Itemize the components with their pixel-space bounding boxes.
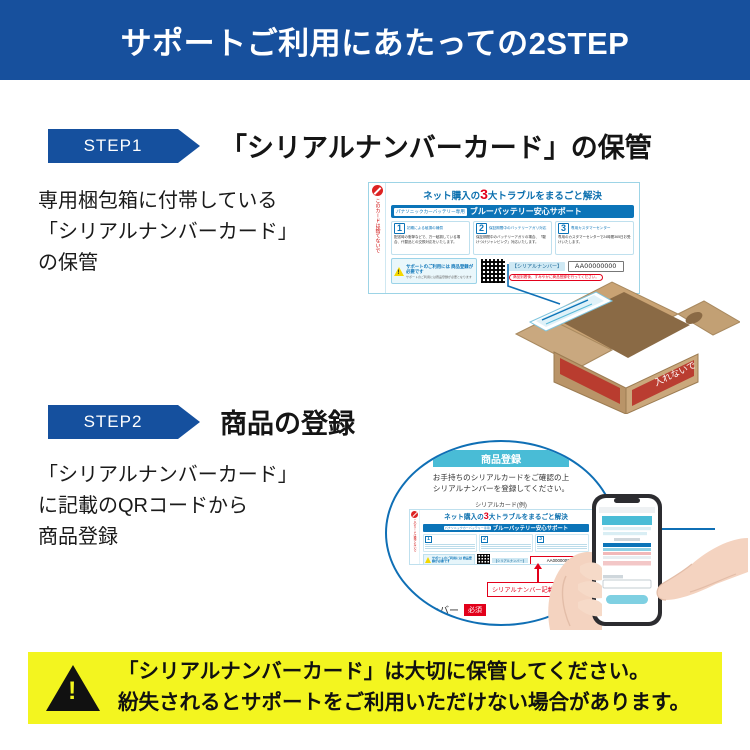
- exclamation-triangle-icon: [46, 665, 100, 711]
- card-warning-sub: サポートのご利用には商品登録が必要となります: [406, 275, 474, 279]
- infographic-page: サポートご利用にあたっての2STEP STEP1 「シリアルナンバーカード」の保…: [0, 0, 750, 750]
- mini-registration-warning: サポートのご利用には 商品登録が必要です: [423, 554, 475, 565]
- mini-warning-title: サポートのご利用には 商品登録が必要です: [432, 557, 473, 564]
- mini-no-discard-icon: [411, 511, 418, 518]
- page-title: サポートご利用にあたっての2STEP: [121, 18, 630, 63]
- step1-heading: STEP1 「シリアルナンバーカード」の保管: [48, 126, 652, 165]
- required-badge: 必須: [464, 604, 486, 616]
- card-side-strip: このカードは捨てないで: [369, 183, 386, 293]
- step2-body-line-1: 「シリアルナンバーカード」: [38, 460, 298, 491]
- serial-field-label: ルナンバー: [409, 602, 459, 617]
- mini-feature-2-number: 2: [481, 536, 488, 543]
- mini-feature-2: 2: [479, 534, 533, 552]
- feature-2-number: 2: [476, 223, 487, 234]
- card-brand-tag: パナソニックカーバッテリー専用: [394, 208, 467, 216]
- card-feature-2: 2 保証期間中のバッテリーアガリ対応 保証期間中のバッテリーアガリの場合、「駆け…: [473, 221, 552, 255]
- feature-1-body: 配送時の衝撃などで、万一破損している場合、代替品との交換対応をいたします。: [394, 235, 467, 244]
- card-feature-3: 3 専用カスタマーセンター 専用のカスタマーセンターで24時間365日お受けいた…: [555, 221, 634, 255]
- phone-in-hand-illustration: [540, 480, 748, 640]
- mini-headline-pre: ネット購入の: [444, 514, 484, 521]
- bottom-warning-box: 「シリアルナンバーカード」は大切に保管してください。 紛失されるとサポートをご利…: [28, 652, 722, 724]
- feature-2-body: 保証期間中のバッテリーアガリの場合、「駆けつけジャンピング」対応いたします。: [476, 235, 549, 244]
- step2-badge-label: STEP2: [84, 412, 143, 432]
- step1-badge: STEP1: [48, 129, 178, 163]
- feature-1-number: 1: [394, 223, 405, 234]
- step2-body: 「シリアルナンバーカード」 に記載のQRコードから 商品登録: [38, 460, 298, 553]
- warning-triangle-icon: [394, 267, 404, 276]
- step1-body-line-2: 「シリアルナンバーカード」: [38, 217, 298, 248]
- cardboard-box-illustration: 入れないで: [508, 270, 740, 414]
- feature-3-body: 専用のカスタマーセンターで24時間365日お受けいたします。: [558, 235, 631, 244]
- mini-feature-1-number: 1: [425, 536, 432, 543]
- card-side-text: このカードは捨てないで: [375, 198, 380, 253]
- mini-warning-triangle-icon: [425, 557, 431, 563]
- mini-card-side: このカードは捨てないで: [410, 510, 420, 564]
- serial-number-field-row: ルナンバー 必須: [409, 602, 486, 617]
- bottom-warning-line-2: 紛失されるとサポートをご利用いただけない場合があります。: [118, 688, 690, 719]
- card-feature-1: 1 初期による破損の補償 配送時の衝撃などで、万一破損している場合、代替品との交…: [391, 221, 470, 255]
- step2-heading: STEP2 商品の登録: [48, 402, 355, 441]
- step1-body: 専用梱包箱に付帯している 「シリアルナンバーカード」 の保管: [38, 186, 298, 279]
- step2-title: 商品の登録: [220, 402, 355, 441]
- mini-brand-tag: パナソニックカーバッテリー専用: [444, 526, 491, 530]
- feature-3-title: 専用カスタマーセンター: [571, 227, 611, 231]
- cardboard-box-svg: 入れないで: [508, 270, 740, 414]
- feature-1-title: 初期による破損の補償: [407, 227, 443, 231]
- mini-feature-1: 1: [423, 534, 477, 552]
- serial-position-arrow-icon: [537, 568, 539, 582]
- bottom-warning-text: 「シリアルナンバーカード」は大切に保管してください。 紛失されるとサポートをご利…: [118, 657, 690, 719]
- mini-qr-code-icon: [477, 554, 490, 565]
- bottom-warning-line-1: 「シリアルナンバーカード」は大切に保管してください。: [118, 657, 690, 688]
- mini-serial-label: 【シリアルナンバー】: [492, 558, 528, 563]
- card-headline-post: 大トラブルをまるごと解決: [488, 191, 602, 202]
- card-warning-title: サポートのご利用には 商品登録が必要です: [406, 264, 474, 274]
- mini-card-side-text: このカードは捨てないで: [413, 519, 416, 552]
- feature-2-title: 保証期間中のバッテリーアガリ対応: [489, 227, 546, 231]
- header-banner: サポートご利用にあたっての2STEP: [0, 0, 750, 80]
- card-feature-row: 1 初期による破損の補償 配送時の衝撃などで、万一破損している場合、代替品との交…: [391, 221, 634, 255]
- step1-badge-label: STEP1: [84, 136, 143, 156]
- card-registration-warning: サポートのご利用には 商品登録が必要です サポートのご利用には商品登録が必要とな…: [391, 258, 477, 284]
- card-headline-number: 3: [480, 186, 488, 202]
- step1-illustration: このカードは捨てないで ネット購入の3大トラブルをまるごと解決 パナソニックカー…: [368, 182, 740, 414]
- card-brand-bar: パナソニックカーバッテリー専用 ブルーバッテリー安心サポート: [391, 205, 634, 218]
- phone-hand-svg: [540, 480, 748, 640]
- step1-body-line-3: の保管: [38, 248, 298, 279]
- card-headline-pre: ネット購入の: [423, 191, 480, 202]
- step2-body-line-2: に記載のQRコードから: [38, 491, 298, 522]
- step2-badge: STEP2: [48, 405, 178, 439]
- card-headline: ネット購入の3大トラブルをまるごと解決: [391, 187, 634, 202]
- card-brand-title: ブルーバッテリー安心サポート: [470, 206, 582, 217]
- step2-body-line-3: 商品登録: [38, 522, 298, 553]
- registration-panel-title: 商品登録: [433, 450, 569, 467]
- no-discard-icon: [372, 185, 383, 196]
- qr-code-icon: [480, 258, 506, 284]
- feature-3-number: 3: [558, 223, 569, 234]
- step2-illustration: 商品登録 お手持ちのシリアルカードをご確認の上 シリアルナンバーを登録してくださ…: [380, 440, 748, 640]
- step1-title: 「シリアルナンバーカード」の保管: [220, 126, 652, 165]
- step1-body-line-1: 専用梱包箱に付帯している: [38, 186, 298, 217]
